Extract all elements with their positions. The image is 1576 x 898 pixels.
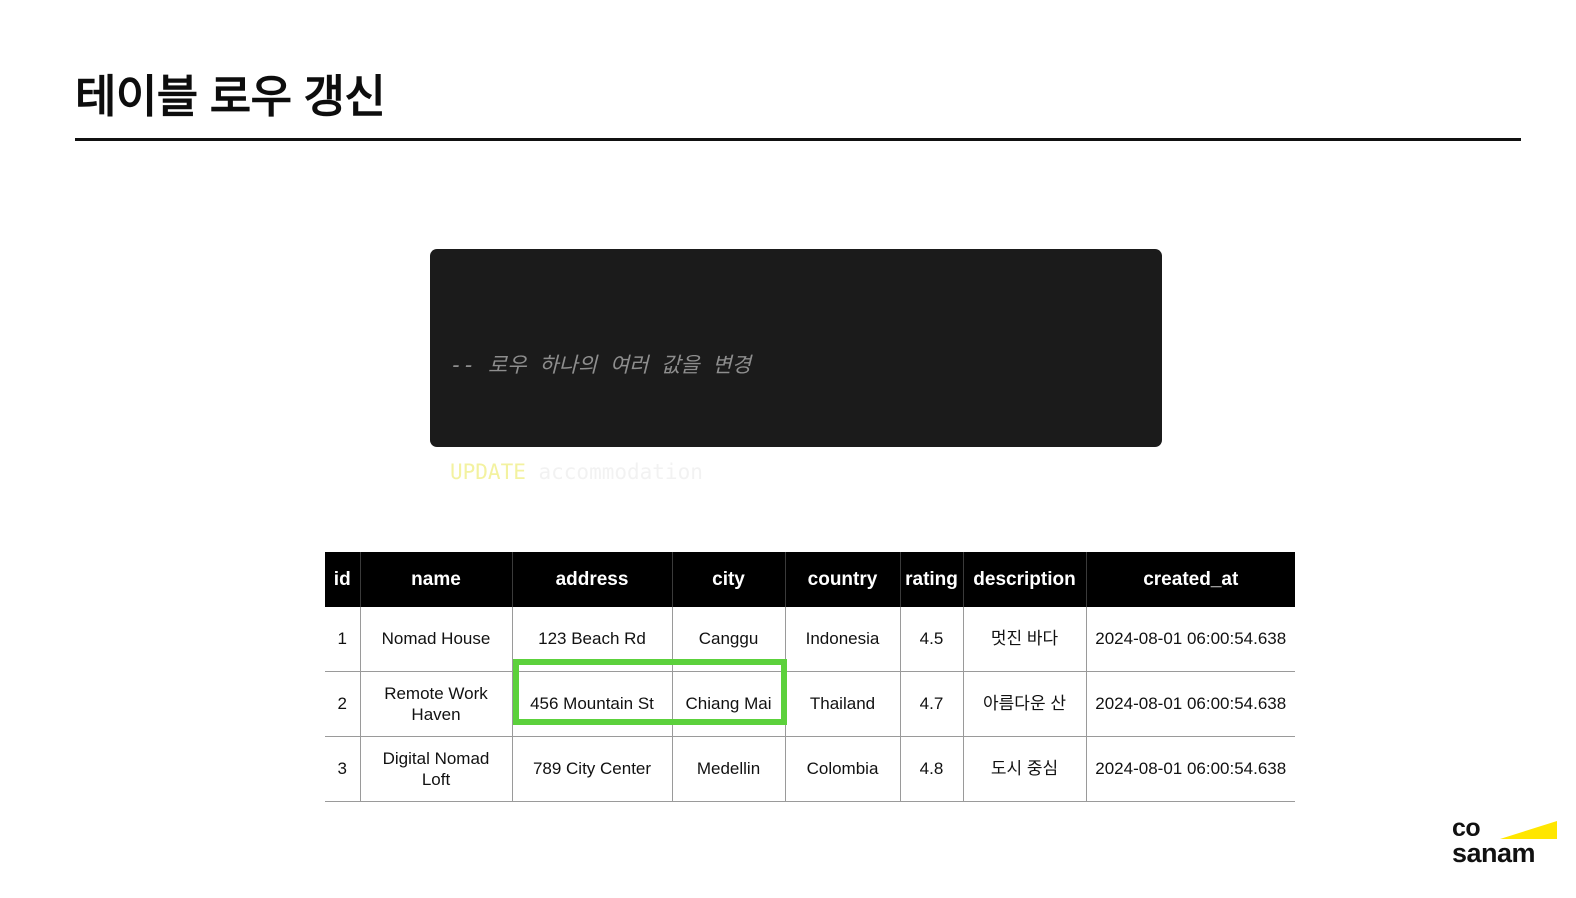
cell-description: 멋진 바다: [963, 607, 1086, 672]
title-divider: [75, 138, 1521, 141]
logo-wedge-icon: [1500, 821, 1557, 839]
accommodation-result-table: id name address city country rating desc…: [325, 552, 1295, 802]
cell-address: 789 City Center: [512, 737, 672, 802]
column-header-description: description: [963, 552, 1086, 607]
cell-city: Chiang Mai: [672, 672, 785, 737]
column-header-address: address: [512, 552, 672, 607]
sql-keyword-update: UPDATE: [450, 460, 526, 484]
page-title: 테이블 로우 갱신: [75, 72, 385, 122]
cell-name: Digital Nomad Loft: [360, 737, 512, 802]
cell-address: 456 Mountain St: [512, 672, 672, 737]
sql-code-block: -- 로우 하나의 여러 값을 변경 UPDATE accommodation …: [430, 249, 1162, 447]
cell-description: 아름다운 산: [963, 672, 1086, 737]
cell-country: Indonesia: [785, 607, 900, 672]
cell-rating: 4.8: [900, 737, 963, 802]
column-header-country: country: [785, 552, 900, 607]
code-line-comment: -- 로우 하나의 여러 값을 변경: [450, 348, 1162, 384]
cell-description: 도시 중심: [963, 737, 1086, 802]
cell-city: Medellin: [672, 737, 785, 802]
cell-name: Remote Work Haven: [360, 672, 512, 737]
column-header-id: id: [325, 552, 360, 607]
code-line-update: UPDATE accommodation: [450, 455, 1162, 491]
cosanam-logo: co sanam: [1452, 818, 1557, 874]
cell-id: 2: [325, 672, 360, 737]
table-row: 3 Digital Nomad Loft 789 City Center Med…: [325, 737, 1295, 802]
cell-rating: 4.7: [900, 672, 963, 737]
logo-text-sanam: sanam: [1452, 840, 1535, 867]
sql-comment: -- 로우 하나의 여러 값을 변경: [450, 353, 751, 377]
table-row: 2 Remote Work Haven 456 Mountain St Chia…: [325, 672, 1295, 737]
cell-id: 1: [325, 607, 360, 672]
cell-country: Thailand: [785, 672, 900, 737]
table-header-row: id name address city country rating desc…: [325, 552, 1295, 607]
column-header-name: name: [360, 552, 512, 607]
cell-city: Canggu: [672, 607, 785, 672]
cell-created-at: 2024-08-01 06:00:54.638: [1086, 737, 1295, 802]
column-header-city: city: [672, 552, 785, 607]
cell-address: 123 Beach Rd: [512, 607, 672, 672]
cell-id: 3: [325, 737, 360, 802]
cell-created-at: 2024-08-01 06:00:54.638: [1086, 672, 1295, 737]
column-header-rating: rating: [900, 552, 963, 607]
cell-country: Colombia: [785, 737, 900, 802]
cell-created-at: 2024-08-01 06:00:54.638: [1086, 607, 1295, 672]
table-row: 1 Nomad House 123 Beach Rd Canggu Indone…: [325, 607, 1295, 672]
column-header-created-at: created_at: [1086, 552, 1295, 607]
cell-rating: 4.5: [900, 607, 963, 672]
cell-name: Nomad House: [360, 607, 512, 672]
sql-table-name: accommodation: [526, 460, 703, 484]
